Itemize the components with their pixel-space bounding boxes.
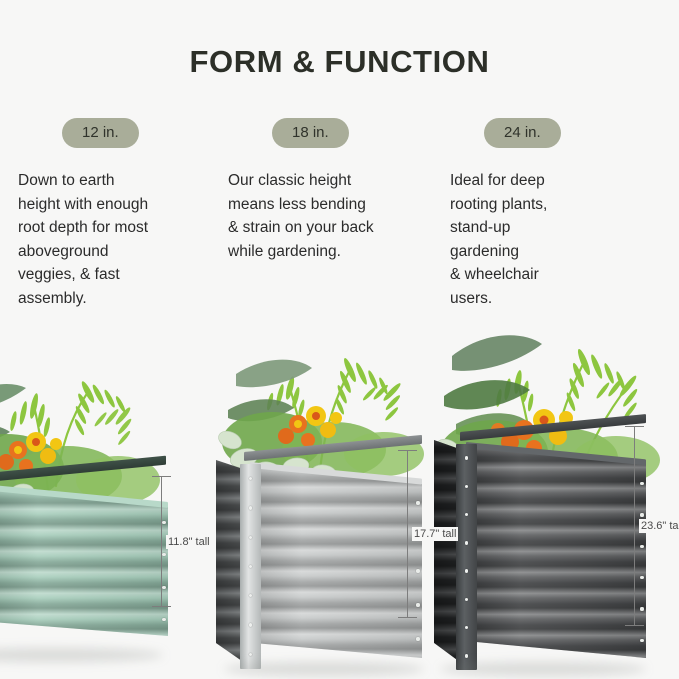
corner-post-24in — [456, 444, 477, 670]
dimension-label-12in: 11.8" tall — [166, 535, 212, 549]
planter-shadow-18in — [224, 662, 424, 676]
size-badge-24in: 24 in. — [484, 118, 561, 148]
feature-column-12in: 12 in. Down to earth height with enough … — [18, 118, 223, 310]
planter-front-face-24in — [466, 446, 646, 658]
feature-description-18in: Our classic height means less bending & … — [228, 169, 433, 263]
planter-shadow-24in — [440, 662, 646, 676]
product-photo-stage: 11.8" tall 17.7" tall 23.6" tall — [0, 330, 679, 679]
planter-shadow-12in — [0, 648, 163, 662]
dimension-line-18in: 17.7" tall — [398, 450, 458, 618]
size-badge-12in: 12 in. — [62, 118, 139, 148]
planter-front-face-18in — [250, 466, 422, 658]
dimension-label-18in: 17.7" tall — [412, 527, 458, 541]
feature-description-24in: Ideal for deep rooting plants, stand-up … — [450, 169, 662, 310]
dimension-label-24in: 23.6" tall — [639, 519, 679, 533]
planter-front-face-12in — [0, 488, 168, 636]
dimension-line-12in: 11.8" tall — [152, 476, 212, 607]
feature-column-18in: 18 in. Our classic height means less ben… — [228, 118, 433, 263]
size-badge-18in: 18 in. — [272, 118, 349, 148]
feature-column-24in: 24 in. Ideal for deep rooting plants, st… — [450, 118, 662, 310]
page-title: FORM & FUNCTION — [0, 44, 679, 80]
dimension-line-24in: 23.6" tall — [625, 426, 679, 626]
corner-post-18in — [240, 464, 261, 669]
feature-description-12in: Down to earth height with enough root de… — [18, 169, 223, 310]
